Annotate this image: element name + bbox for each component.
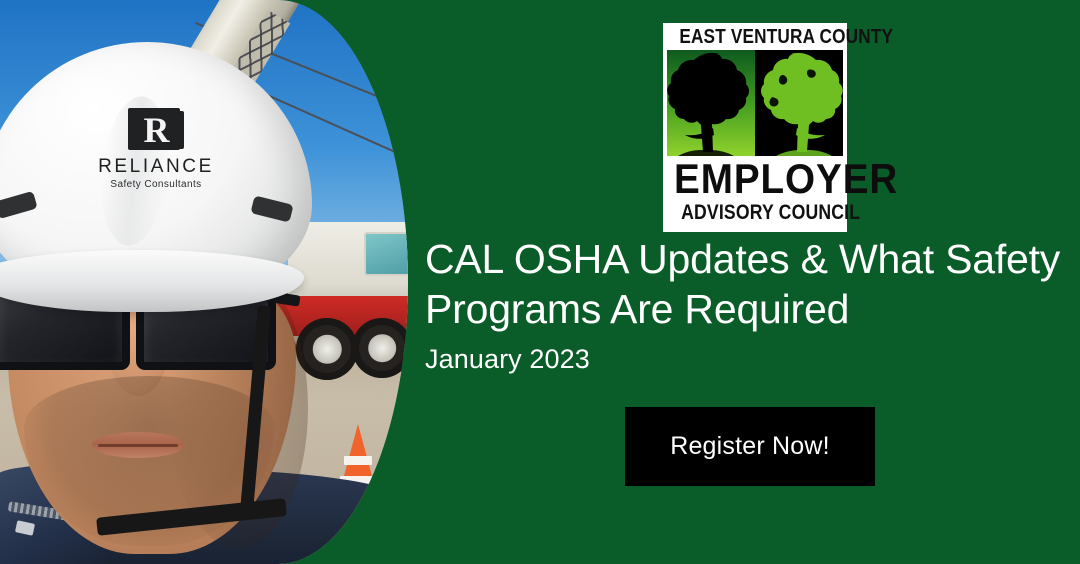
- webinar-promo-banner: R RELIANCE Safety Consultants EAST VENTU…: [0, 0, 1080, 564]
- photo-scene: R RELIANCE Safety Consultants: [0, 0, 408, 564]
- eac-logo-bottom-text: ADVISORY COUNCIL: [681, 200, 829, 226]
- speaker-photo: R RELIANCE Safety Consultants: [0, 0, 408, 564]
- crane-truck-wheel: [352, 318, 408, 378]
- content-panel: EAST VENTURA COUNTY: [408, 0, 1080, 564]
- mouth: [92, 432, 184, 458]
- reliance-logo-name: RELIANCE: [86, 157, 226, 177]
- reliance-logo-mark-letter: R: [128, 108, 184, 152]
- reliance-logo: R RELIANCE Safety Consultants: [86, 108, 226, 190]
- event-date: January 2023: [425, 342, 590, 376]
- reliance-logo-tagline: Safety Consultants: [86, 179, 226, 190]
- reliance-r-icon: R: [128, 108, 184, 152]
- page-title: CAL OSHA Updates & What Safety Programs …: [425, 234, 1080, 334]
- oak-tree-dark-icon: [667, 50, 755, 156]
- eac-logo-tree-artwork: [667, 50, 843, 156]
- eac-logo-middle-text: EMPLOYER: [674, 158, 836, 200]
- oak-tree-green-icon: [755, 50, 843, 156]
- eac-tree-panel-left: [667, 50, 755, 156]
- traffic-cone-band: [344, 456, 372, 465]
- eac-logo: EAST VENTURA COUNTY: [663, 23, 847, 232]
- crane-truck-window: [364, 232, 408, 276]
- eac-tree-panel-right: [755, 50, 843, 156]
- eac-logo-top-text: EAST VENTURA COUNTY: [679, 25, 830, 49]
- register-now-button[interactable]: Register Now!: [625, 407, 875, 486]
